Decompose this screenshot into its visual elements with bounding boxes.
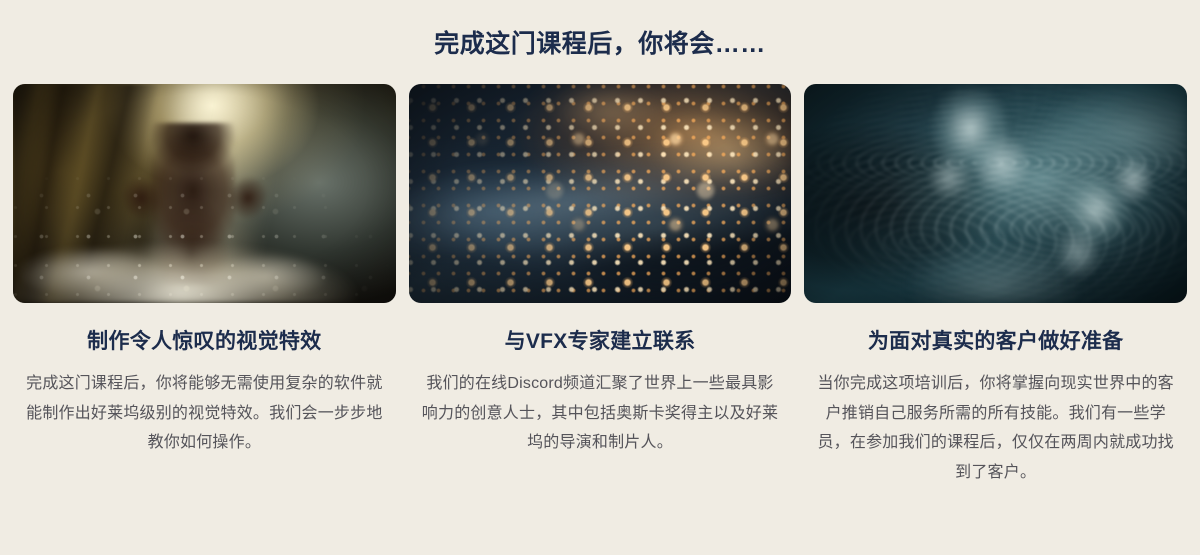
benefit-card-3: 为面对真实的客户做好准备 当你完成这项培训后，你将掌握向现实世界中的客户推销自己… (804, 84, 1187, 488)
teal-smoke-wisps-image (804, 84, 1187, 303)
benefit-card-2-heading: 与VFX专家建立联系 (505, 329, 696, 355)
benefit-card-3-heading: 为面对真实的客户做好准备 (868, 329, 1124, 355)
warrior-running-through-water-image (13, 84, 396, 303)
section-title: 完成这门课程后，你将会…… (0, 0, 1200, 59)
image-vignette (13, 84, 396, 303)
benefit-card-3-body: 当你完成这项培训后，你将掌握向现实世界中的客户推销自己服务所需的所有技能。我们有… (810, 369, 1182, 487)
benefit-cards-row: 制作令人惊叹的视觉特效 完成这门课程后，你将能够无需使用复杂的软件就能制作出好莱… (0, 84, 1200, 488)
benefits-section: 完成这门课程后，你将会…… 制作令人惊叹的视觉特效 完成这门课程后，你将能够无需… (0, 0, 1200, 555)
benefit-card-2: 与VFX专家建立联系 我们的在线Discord频道汇聚了世界上一些最具影响力的创… (409, 84, 792, 488)
benefit-card-1-body: 完成这门课程后，你将能够无需使用复杂的软件就能制作出好莱坞级别的视觉特效。我们会… (18, 369, 390, 458)
image-vignette (409, 84, 792, 303)
benefit-card-1: 制作令人惊叹的视觉特效 完成这门课程后，你将能够无需使用复杂的软件就能制作出好莱… (13, 84, 396, 488)
benefit-card-1-heading: 制作令人惊叹的视觉特效 (87, 329, 321, 355)
golden-sparks-over-dark-smoke-image (409, 84, 792, 303)
image-vignette (804, 84, 1187, 303)
benefit-card-2-body: 我们的在线Discord频道汇聚了世界上一些最具影响力的创意人士，其中包括奥斯卡… (414, 369, 786, 458)
